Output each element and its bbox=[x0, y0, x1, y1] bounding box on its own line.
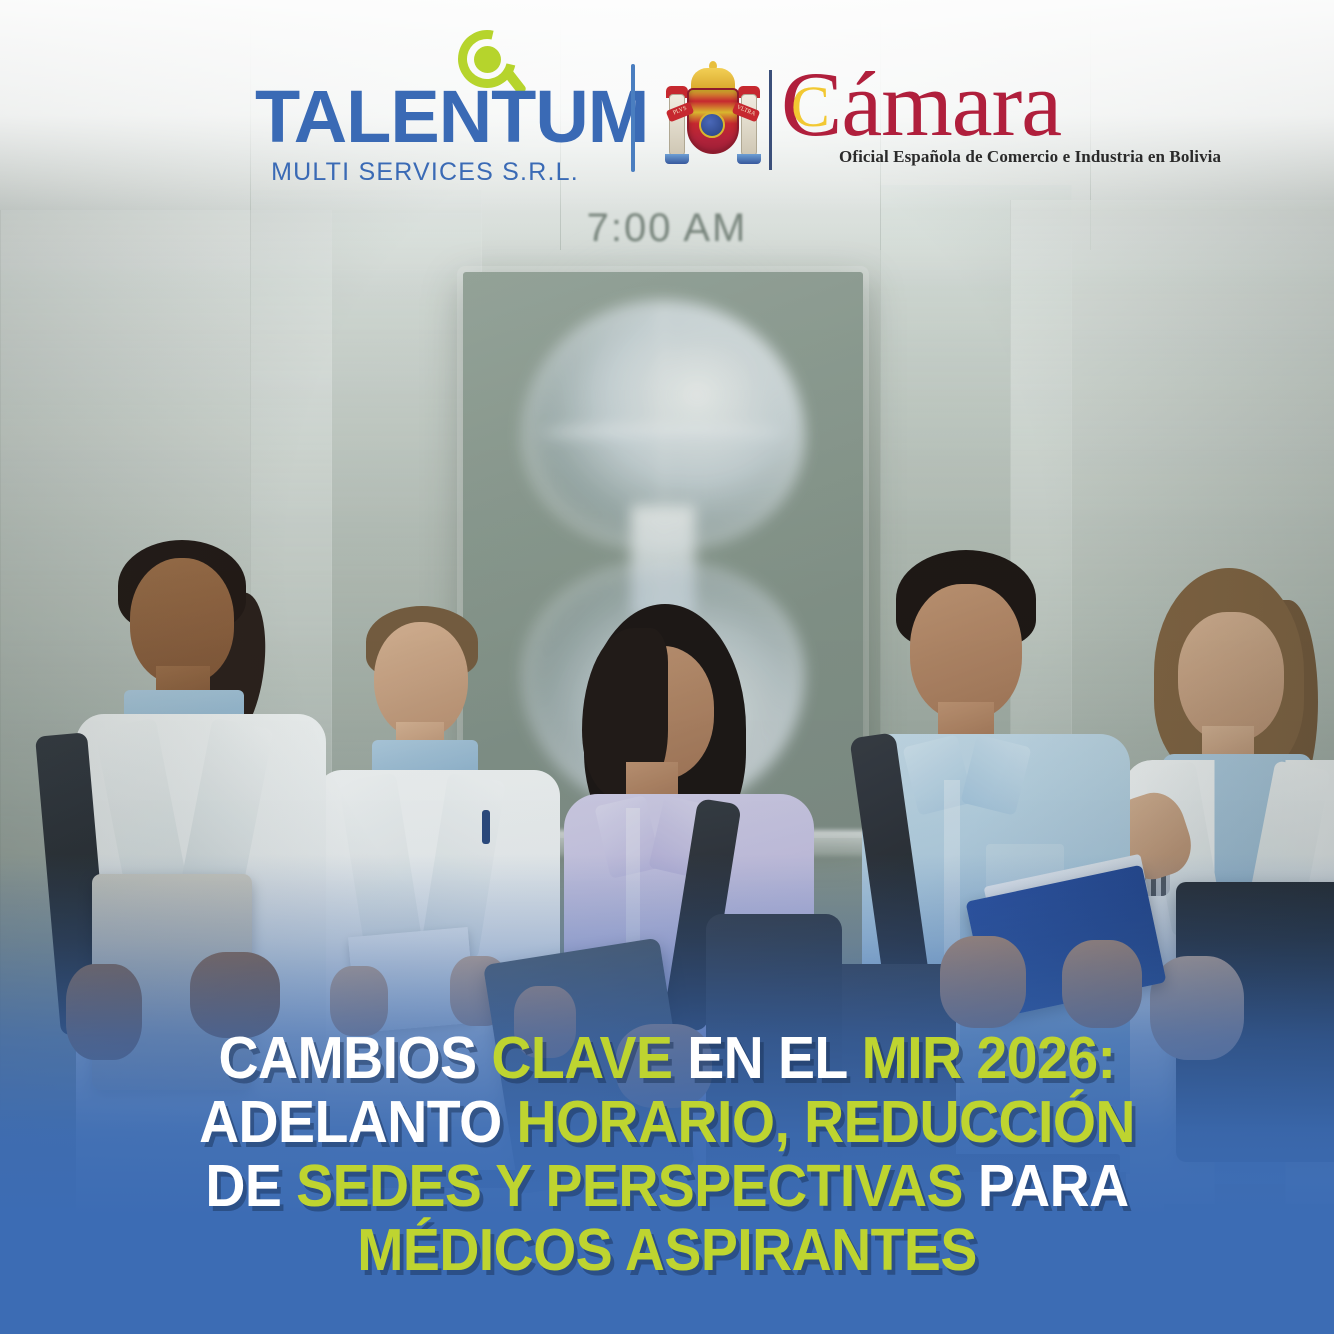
headline-line-3: DE SEDES Y PERSPECTIVAS PARA bbox=[40, 1154, 1294, 1218]
headline-seg: HORARIO, REDUCCIÓN bbox=[516, 1089, 1134, 1155]
header-bar: TALENTUM MULTI SERVICES S.R.L. PLVS VLTR… bbox=[0, 0, 1334, 200]
headline-seg: MÉDICOS ASPIRANTES bbox=[357, 1217, 976, 1283]
talentum-tagline: MULTI SERVICES S.R.L. bbox=[255, 160, 595, 185]
talentum-wordmark: TALENTUM bbox=[255, 80, 595, 154]
spain-coat-of-arms-icon: PLVS VLTRA bbox=[665, 68, 761, 174]
headline-seg: CAMBIOS bbox=[219, 1025, 492, 1091]
headline-seg: CLAVE bbox=[491, 1025, 687, 1091]
headline-line-4: MÉDICOS ASPIRANTES bbox=[40, 1218, 1294, 1282]
logo-divider bbox=[631, 64, 635, 172]
headline-seg: PARA bbox=[978, 1153, 1129, 1219]
headline-seg: MIR 2026: bbox=[862, 1025, 1116, 1091]
camara-logo[interactable]: PLVS VLTRA Cámara C Oficial Española de … bbox=[665, 64, 1095, 180]
headline-line-1: CAMBIOS CLAVE EN EL MIR 2026: bbox=[40, 1026, 1294, 1090]
headline-seg: DE bbox=[205, 1153, 296, 1219]
camara-wordmark-rest: ámara bbox=[841, 53, 1061, 155]
headline-block: CAMBIOS CLAVE EN EL MIR 2026: ADELANTO H… bbox=[40, 1026, 1294, 1282]
camara-subtitle: Oficial Española de Comercio e Industria… bbox=[839, 148, 1221, 165]
talentum-logo[interactable]: TALENTUM MULTI SERVICES S.R.L. bbox=[255, 22, 595, 182]
headline-seg: SEDES Y PERSPECTIVAS bbox=[296, 1153, 978, 1219]
headline-line-2: ADELANTO HORARIO, REDUCCIÓN bbox=[40, 1090, 1294, 1154]
headline-seg: EN EL bbox=[687, 1025, 861, 1091]
camara-inner-divider bbox=[769, 70, 772, 170]
headline-seg: ADELANTO bbox=[199, 1089, 516, 1155]
camara-inner-initial: C bbox=[791, 78, 830, 136]
poster-canvas: 7:00 AM bbox=[0, 0, 1334, 1334]
